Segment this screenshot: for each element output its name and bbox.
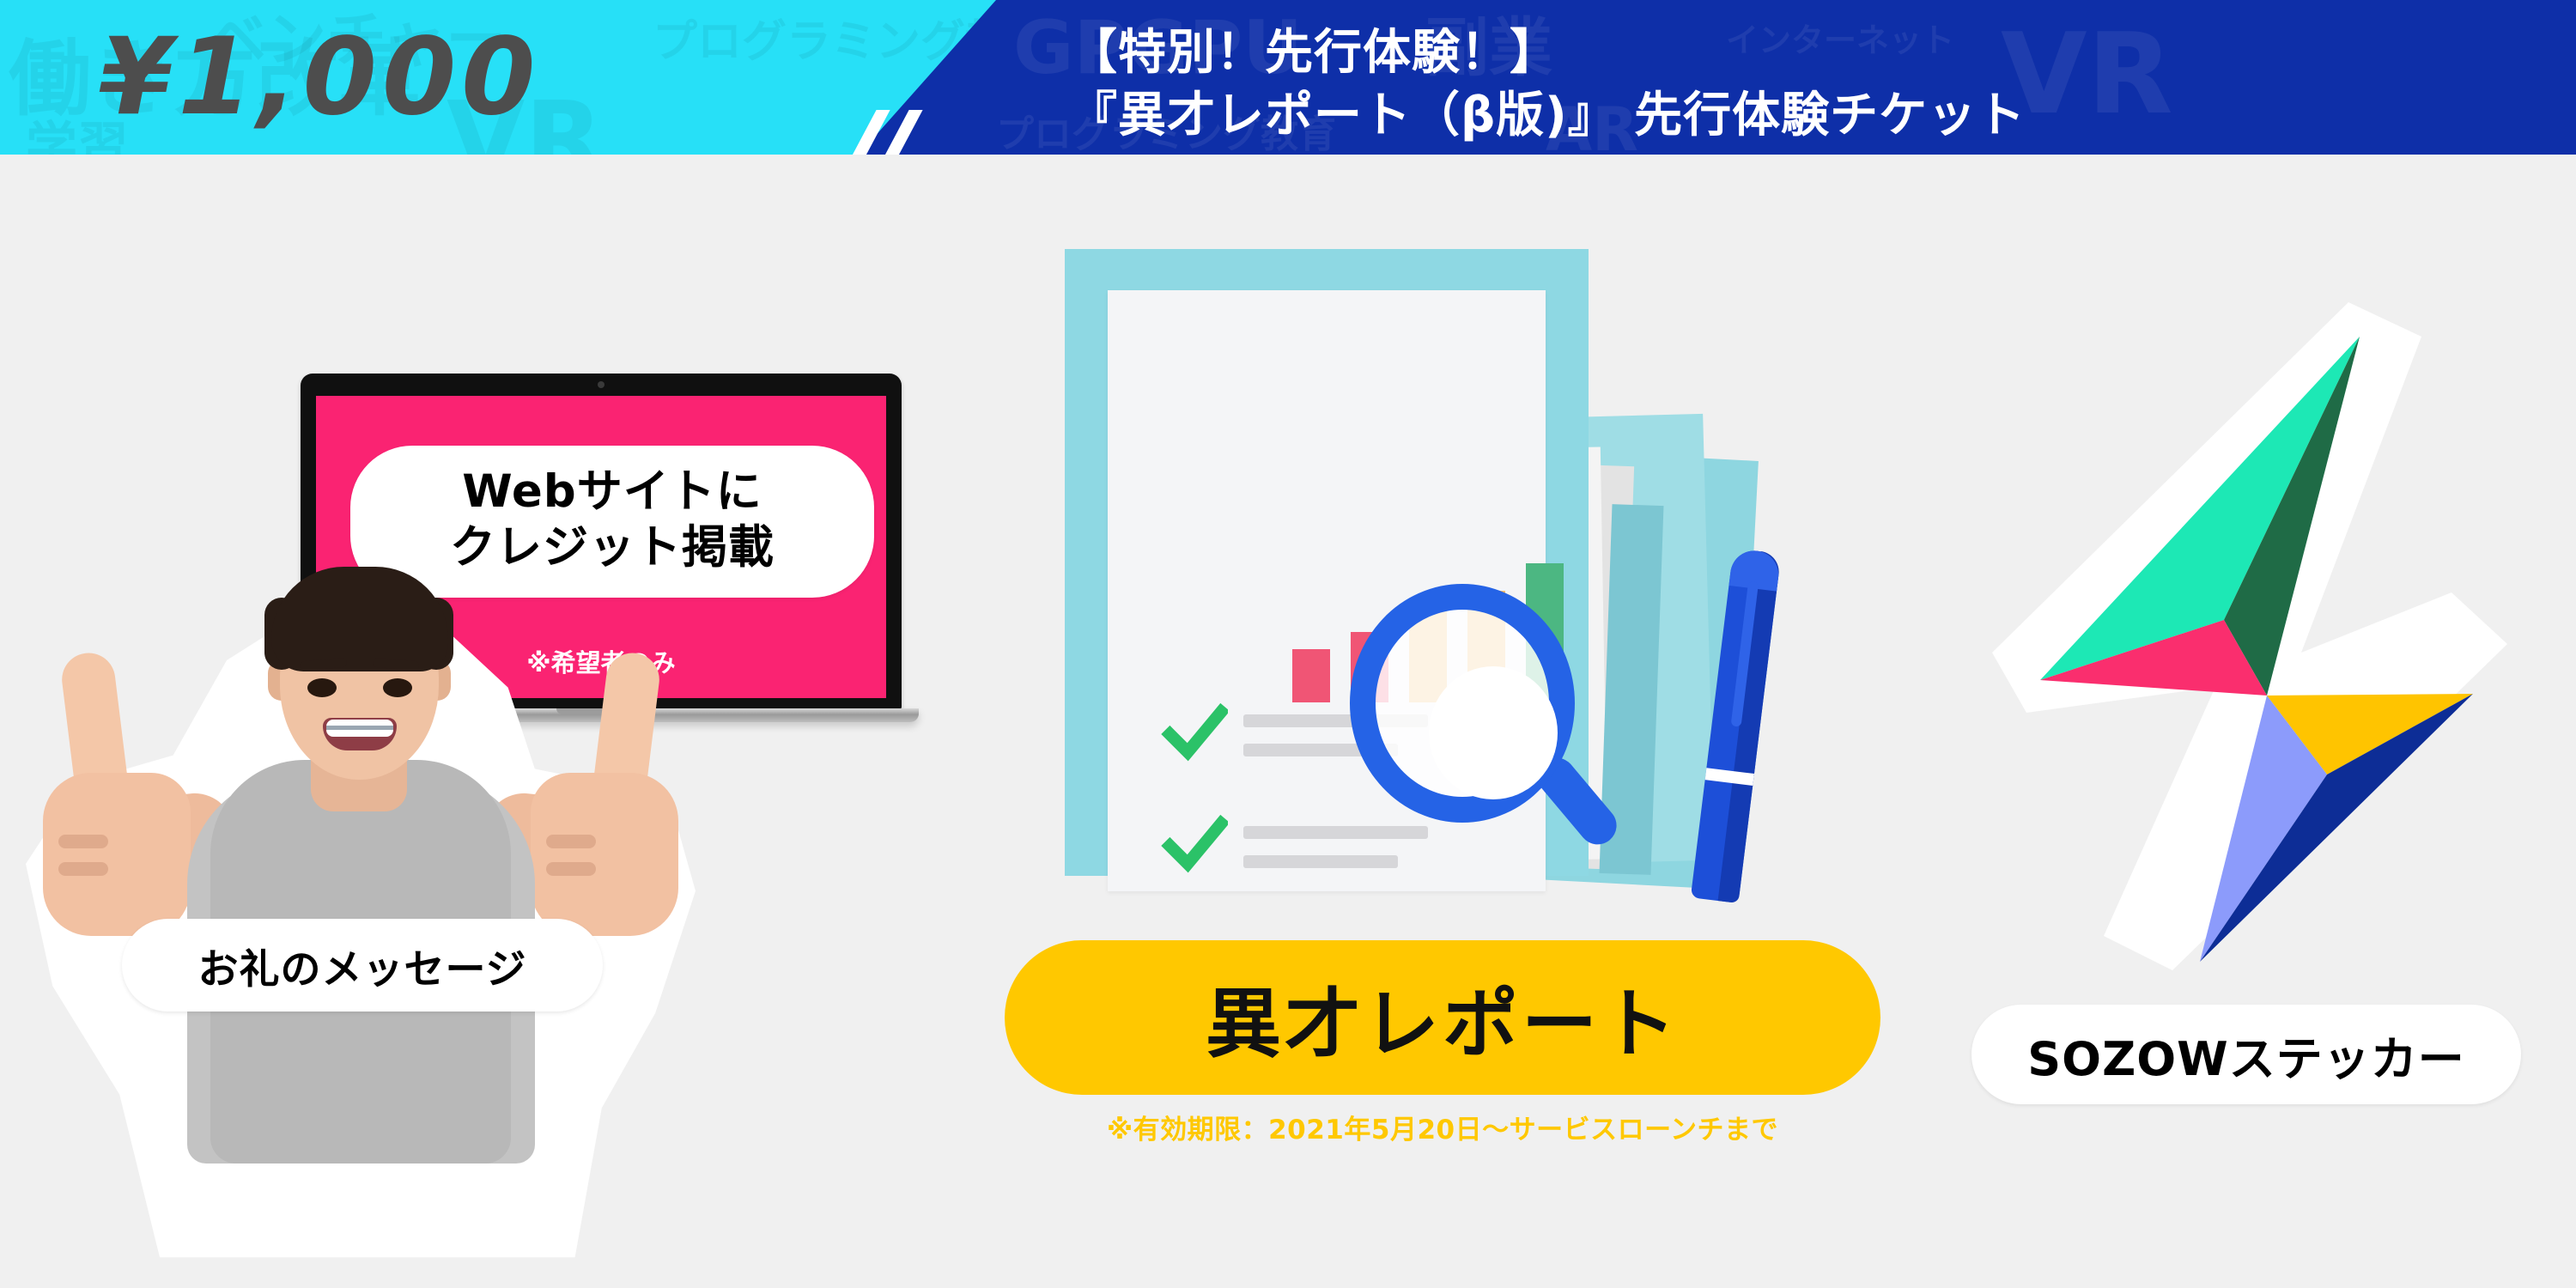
person-reward: お礼のメッセージ bbox=[0, 515, 730, 1288]
webcam-icon bbox=[598, 381, 605, 388]
price-label: ¥1,000 bbox=[99, 24, 541, 131]
header-title-line2: 『異才レポート（β版)』 先行体験チケット bbox=[1069, 85, 2026, 148]
header-title: 【特別！先行体験！】 『異才レポート（β版)』 先行体験チケット bbox=[1069, 22, 2026, 148]
thanks-message-label: お礼のメッセージ bbox=[197, 936, 526, 995]
report-pill: 異才レポート bbox=[1005, 940, 1880, 1095]
eye-right bbox=[383, 678, 412, 697]
hair bbox=[271, 567, 448, 671]
header-title-line1: 【特別！先行体験！】 bbox=[1069, 22, 2026, 85]
eye-left bbox=[307, 678, 337, 697]
report-pill-label: 異才レポート bbox=[1206, 963, 1680, 1072]
thanks-message-pill: お礼のメッセージ bbox=[122, 919, 603, 1012]
report-validity: ※有効期限：2021年5月20日〜サービスローンチまで bbox=[1005, 1108, 1880, 1146]
mouth bbox=[323, 718, 397, 750]
check-icon bbox=[1161, 701, 1228, 768]
knuckle-line bbox=[58, 862, 108, 876]
header-band: 働き方改革 ベンチャー VR 学習 プログラミング教育 GPGPU 副業 インタ… bbox=[0, 0, 2576, 155]
fist-left bbox=[43, 773, 191, 936]
credit-bubble-line1: Webサイトに bbox=[359, 465, 866, 520]
sozow-bolt-icon bbox=[1958, 283, 2542, 987]
ticket-graphic: 働き方改革 ベンチャー VR 学習 プログラミング教育 GPGPU 副業 インタ… bbox=[0, 0, 2576, 1288]
braces bbox=[326, 726, 393, 730]
knuckle-line bbox=[546, 862, 596, 876]
bar-1 bbox=[1292, 649, 1330, 702]
sticker-label: SOZOWステッカー bbox=[2027, 1021, 2464, 1089]
sticker-reward: SOZOWステッカー bbox=[1958, 283, 2542, 1142]
check-icon bbox=[1161, 812, 1228, 879]
knuckle-line bbox=[58, 835, 108, 848]
report-reward: 異才レポート ※有効期限：2021年5月20日〜サービスローンチまで bbox=[1013, 206, 1838, 1073]
magnifier-highlight bbox=[1429, 666, 1558, 799]
sticker-pill: SOZOWステッカー bbox=[1971, 1005, 2521, 1104]
fist-right bbox=[531, 773, 678, 936]
magnifier-icon bbox=[1350, 584, 1616, 867]
magnifier-ring bbox=[1350, 584, 1575, 823]
bg-word: VR bbox=[2001, 9, 2173, 139]
sozow-logo bbox=[1958, 283, 2542, 987]
knuckle-line bbox=[546, 835, 596, 848]
rewards-stage: Webサイトに クレジット掲載 ※希望者のみ bbox=[0, 155, 2576, 1288]
